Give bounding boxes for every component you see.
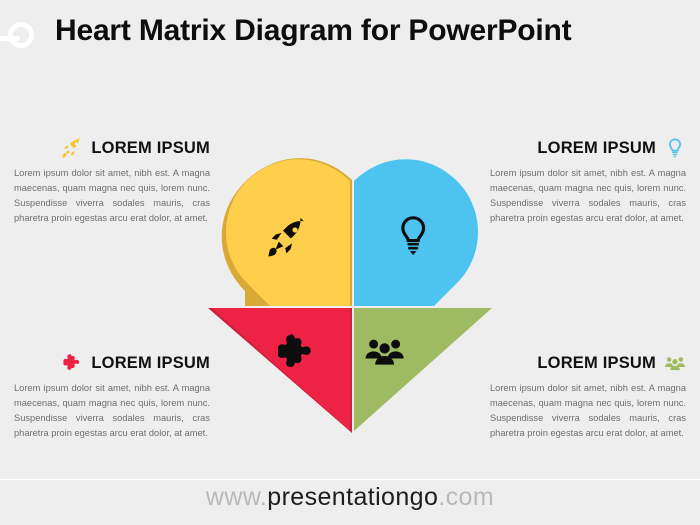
lightbulb-icon [664,137,686,159]
info-block-bottom-right[interactable]: LOREM IPSUM Lorem ipsum dolor sit amet, … [490,352,686,441]
decorative-ring-graphic [0,18,46,58]
heart-matrix-diagram [200,155,504,445]
footer-url-prefix: www. [206,483,267,511]
slide-canvas: Heart Matrix Diagram for PowerPoint LORE… [0,0,700,525]
info-block-body: Lorem ipsum dolor sit amet, nibh est. A … [490,381,686,441]
info-block-top-left[interactable]: LOREM IPSUM Lorem ipsum dolor sit amet, … [14,137,210,226]
footer-url-brand: presentationgo [267,483,438,511]
info-block-header: LOREM IPSUM [490,137,686,159]
info-block-title: LOREM IPSUM [537,139,656,158]
puzzle-piece-icon [61,352,83,374]
info-block-body: Lorem ipsum dolor sit amet, nibh est. A … [490,166,686,226]
info-block-title: LOREM IPSUM [537,354,656,373]
info-block-header: LOREM IPSUM [14,137,210,159]
circle-ring-icon [8,22,34,48]
info-block-header: LOREM IPSUM [14,352,210,374]
info-block-body: Lorem ipsum dolor sit amet, nibh est. A … [14,166,210,226]
heart-quadrant-top-right[interactable] [354,159,478,306]
footer-url-suffix: .com [438,483,494,511]
footer-divider [0,479,700,480]
page-title: Heart Matrix Diagram for PowerPoint [55,12,615,50]
info-block-bottom-left[interactable]: LOREM IPSUM Lorem ipsum dolor sit amet, … [14,352,210,441]
people-group-icon [664,352,686,374]
footer-url[interactable]: www.presentationgo.com [0,483,700,512]
info-block-body: Lorem ipsum dolor sit amet, nibh est. A … [14,381,210,441]
heart-svg [200,155,504,445]
info-block-top-right[interactable]: LOREM IPSUM Lorem ipsum dolor sit amet, … [490,137,686,226]
info-block-header: LOREM IPSUM [490,352,686,374]
info-block-title: LOREM IPSUM [91,139,210,158]
rocket-icon [61,137,83,159]
heart-quadrant-bottom-right[interactable] [354,308,492,431]
info-block-title: LOREM IPSUM [91,354,210,373]
